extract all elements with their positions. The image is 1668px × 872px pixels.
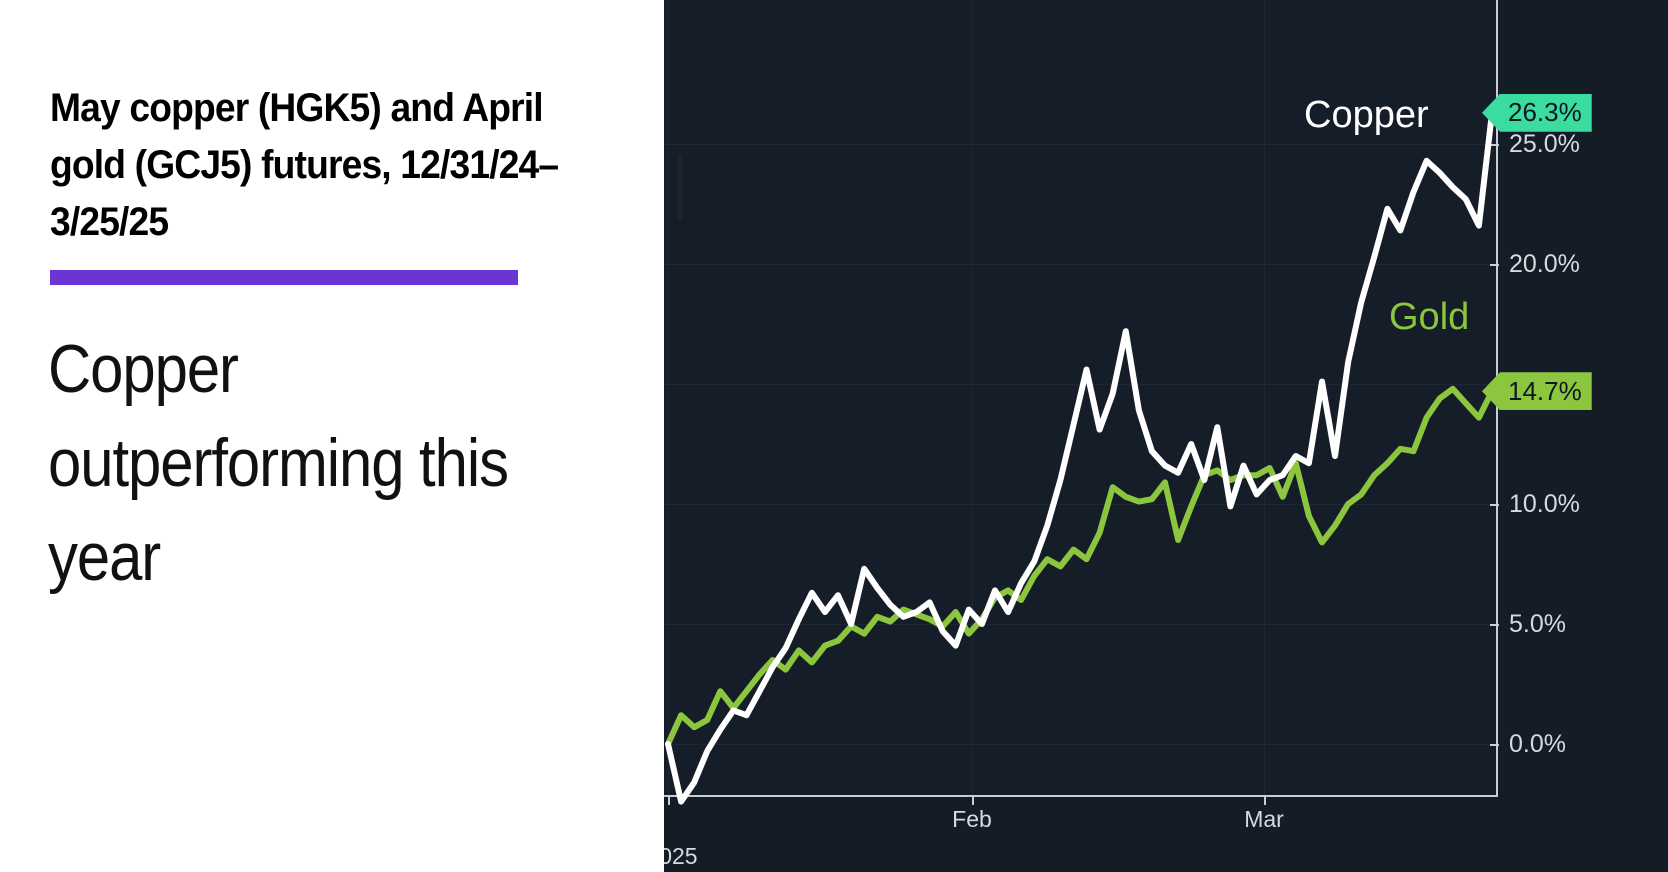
accent-divider [50, 270, 518, 285]
page-title: May copper (HGK5) and April gold (GCJ5) … [50, 80, 608, 251]
gold-end-value-badge: 14.7% [1482, 372, 1592, 410]
text-panel: May copper (HGK5) and April gold (GCJ5) … [0, 0, 664, 872]
chart-panel: 25.0% 20.0% 15.0% 10.0% 5.0% 0.0% Feb Ma… [664, 0, 1668, 872]
copper-end-value-badge: 26.3% [1482, 94, 1592, 132]
page-subtitle: Copper outperforming this year [48, 322, 576, 604]
copper-line [668, 113, 1492, 802]
gold-series-label: Gold [1389, 298, 1469, 336]
copper-series-label: Copper [1304, 96, 1429, 134]
infographic-root: May copper (HGK5) and April gold (GCJ5) … [0, 0, 1668, 872]
gold-line [668, 389, 1492, 744]
